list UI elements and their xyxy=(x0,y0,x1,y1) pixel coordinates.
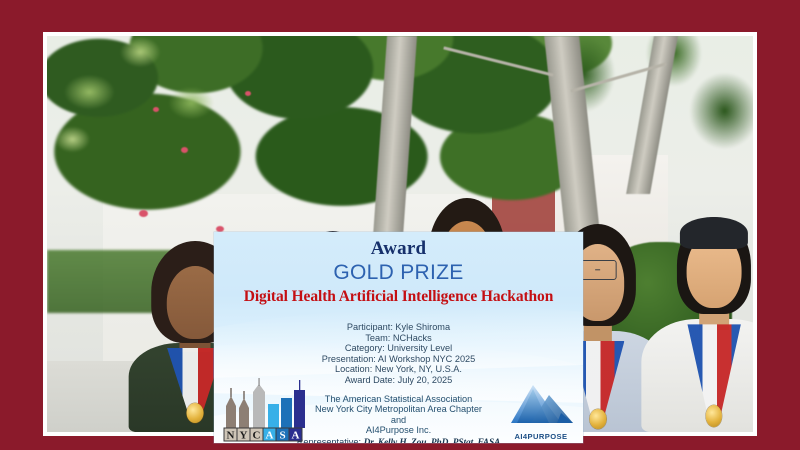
svg-text:N: N xyxy=(227,430,235,442)
flower xyxy=(181,147,188,153)
award-certificate: Award GOLD PRIZE Digital Health Artifici… xyxy=(214,232,583,443)
detail-participant: Participant: Kyle Shiroma xyxy=(214,322,583,333)
svg-text:A: A xyxy=(292,430,300,442)
gold-medal xyxy=(589,409,606,429)
detail-category: Category: University Level xyxy=(214,343,583,354)
gold-medal xyxy=(187,403,204,423)
ai4purpose-logo: AI4PURPOSE xyxy=(503,383,579,441)
detail-location: Location: New York, NY, U.S.A. xyxy=(214,364,583,375)
svg-text:A: A xyxy=(266,430,274,442)
nycasa-logo: N Y C A S A xyxy=(222,378,310,442)
svg-text:Y: Y xyxy=(240,430,248,442)
svg-text:S: S xyxy=(279,430,285,442)
baseball-cap xyxy=(680,217,748,249)
certificate-event-title: Digital Health Artificial Intelligence H… xyxy=(214,288,583,305)
certificate-details: Participant: Kyle Shiroma Team: NCHacks … xyxy=(214,322,583,386)
svg-text:C: C xyxy=(253,430,261,442)
detail-presentation: Presentation: AI Workshop NYC 2025 xyxy=(214,354,583,365)
eyeglasses xyxy=(578,260,617,280)
gold-medal xyxy=(706,405,722,427)
screenshot-canvas: Award GOLD PRIZE Digital Health Artifici… xyxy=(0,0,800,450)
detail-team: Team: NCHacks xyxy=(214,333,583,344)
ai4purpose-wordmark: AI4PURPOSE xyxy=(503,432,579,441)
person-5 xyxy=(640,163,753,432)
representative-signature: Dr. Kelly H. Zou, PhD, PStat, FASA xyxy=(364,438,501,443)
certificate-prize: GOLD PRIZE xyxy=(214,262,583,284)
certificate-heading: Award xyxy=(214,239,583,259)
